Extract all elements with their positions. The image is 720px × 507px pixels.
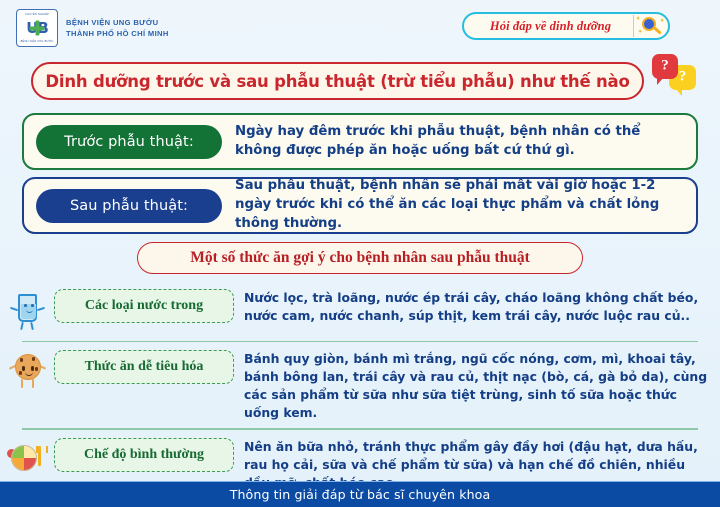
list-item: Các loại nước trong Nước lọc, trà loãng,… xyxy=(0,281,720,341)
section-heading: Một số thức ăn gợi ý cho bệnh nhân sau p… xyxy=(137,242,583,274)
row-label-cell: Thức ăn dễ tiêu hóa xyxy=(54,348,244,384)
food-category-label: Các loại nước trong xyxy=(85,298,203,314)
panel-before-surgery-text: Ngày hay đêm trước khi phẫu thuật, bệnh … xyxy=(222,123,684,161)
food-plate-icon xyxy=(7,440,47,484)
cookie-icon xyxy=(7,352,47,396)
organization-name: BỆNH VIỆN UNG BƯỚU THÀNH PHỐ HỒ CHÍ MINH xyxy=(66,17,169,39)
header: CHUYÊN NGHIỆP UB BỆNH VIỆN UNG BƯỚU BỆNH… xyxy=(0,0,720,54)
food-category-tag: Các loại nước trong xyxy=(54,289,234,323)
panel-after-surgery-label: Sau phẫu thuật: xyxy=(36,189,222,223)
org-line-1: BỆNH VIỆN UNG BƯỚU xyxy=(66,17,169,28)
qa-banner: Hỏi đáp về dinh dưỡng ✦✦✦ xyxy=(462,12,670,40)
logo-ring-bottom-text: BỆNH VIỆN UNG BƯỚU xyxy=(17,40,57,43)
infographic-page: CHUYÊN NGHIỆP UB BỆNH VIỆN UNG BƯỚU BỆNH… xyxy=(0,0,720,507)
row-icon-cell xyxy=(0,436,54,484)
panel-before-surgery-label: Trước phẫu thuật: xyxy=(36,125,222,159)
bubble-yellow-mark: ? xyxy=(679,68,687,85)
panel-after-surgery: Sau phẫu thuật: Sau phẫu thuật, bệnh nhâ… xyxy=(22,177,698,234)
row-icon-cell xyxy=(0,348,54,396)
hospital-branding: CHUYÊN NGHIỆP UB BỆNH VIỆN UNG BƯỚU BỆNH… xyxy=(16,9,169,47)
qa-banner-label: Hỏi đáp về dinh dưỡng xyxy=(464,19,633,34)
food-category-tag: Chế độ bình thường xyxy=(54,438,234,472)
food-suggestion-list: Các loại nước trong Nước lọc, trà loãng,… xyxy=(0,281,720,498)
bubble-red-mark: ? xyxy=(661,57,669,74)
row-icon-cell xyxy=(0,287,54,335)
food-description: Bánh quy giòn, bánh mì trắng, ngũ cốc nó… xyxy=(244,348,720,422)
row-label-cell: Chế độ bình thường xyxy=(54,436,244,472)
food-category-label: Chế độ bình thường xyxy=(84,447,204,463)
logo-ring-top-text: CHUYÊN NGHIỆP xyxy=(17,13,57,16)
panel-after-surgery-text: Sau phẫu thuật, bệnh nhân sẽ phải mất và… xyxy=(222,177,684,234)
food-category-label: Thức ăn dễ tiêu hóa xyxy=(85,359,204,375)
row-label-cell: Các loại nước trong xyxy=(54,287,244,323)
footer-text: Thông tin giải đáp từ bác sĩ chuyên khoa xyxy=(230,487,491,502)
medical-cross-icon xyxy=(30,21,45,36)
page-title: Dinh dưỡng trước và sau phẫu thuật (trừ … xyxy=(31,62,644,100)
question-bubble-red-icon: ? xyxy=(652,54,678,79)
fork-icon xyxy=(38,446,41,466)
footer-bar: Thông tin giải đáp từ bác sĩ chuyên khoa xyxy=(0,481,720,507)
section-heading-text: Một số thức ăn gợi ý cho bệnh nhân sau p… xyxy=(190,249,530,267)
water-glass-icon xyxy=(7,291,47,335)
magnifier-icon: ✦✦✦ xyxy=(634,13,668,39)
list-item: Thức ăn dễ tiêu hóa Bánh quy giòn, bánh … xyxy=(0,342,720,428)
food-category-tag: Thức ăn dễ tiêu hóa xyxy=(54,350,234,384)
page-title-text: Dinh dưỡng trước và sau phẫu thuật (trừ … xyxy=(45,72,629,91)
panel-before-surgery: Trước phẫu thuật: Ngày hay đêm trước khi… xyxy=(22,113,698,170)
question-bubbles-decoration: ? ? xyxy=(652,54,714,100)
hospital-logo-icon: CHUYÊN NGHIỆP UB BỆNH VIỆN UNG BƯỚU xyxy=(16,9,58,47)
food-description: Nước lọc, trà loãng, nước ép trái cây, c… xyxy=(244,287,720,325)
org-line-2: THÀNH PHỐ HỒ CHÍ MINH xyxy=(66,28,169,39)
